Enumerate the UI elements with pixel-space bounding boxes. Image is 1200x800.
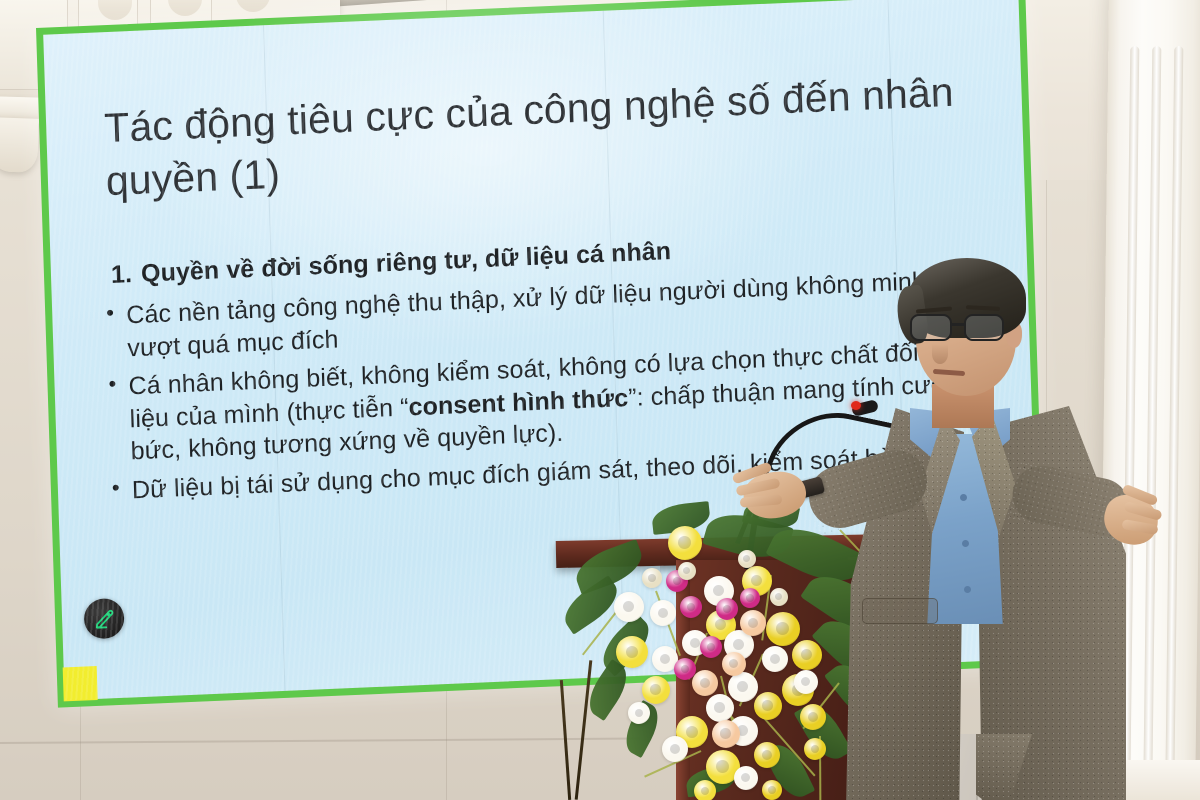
flower-blossom [738, 550, 756, 568]
flower-center [670, 744, 680, 754]
flower-center [768, 786, 776, 794]
shirt-button [964, 586, 971, 593]
presentation-photo-scene: Tác động tiêu cực của công nghệ số đến n… [0, 0, 1200, 800]
flower-blossom [678, 562, 696, 580]
flower-center [660, 654, 670, 664]
flower-center [714, 702, 725, 713]
flower-blossom [674, 658, 696, 680]
blazer-pocket [862, 598, 938, 624]
flower-center [626, 646, 638, 658]
flower-blossom [734, 766, 758, 790]
flower-center [701, 787, 709, 795]
slide-lead-number: 1. [111, 260, 133, 289]
flower-center [686, 726, 698, 738]
slide-bullet-emphasis: consent hình thức [408, 384, 629, 421]
pilaster-flute [1165, 46, 1183, 800]
flower-blossom [716, 598, 738, 620]
flower-blossom [642, 676, 670, 704]
flower-blossom [616, 636, 648, 668]
flower-center [811, 745, 819, 753]
flower-center [808, 712, 818, 722]
flower-blossom [700, 636, 722, 658]
pencil-glyph [92, 607, 116, 631]
flower-center [715, 619, 726, 630]
flower-center [746, 594, 754, 602]
flower-center [635, 709, 643, 717]
flower-center [762, 700, 773, 711]
flower-blossom [762, 780, 782, 800]
flower-center [658, 608, 668, 618]
flower-blossom [754, 742, 780, 768]
flower-center [733, 639, 744, 650]
eyeglasses [910, 314, 1022, 342]
flower-blossom [680, 596, 702, 618]
flower-blossom [740, 588, 760, 608]
bouquet-stem [560, 680, 571, 800]
shirt-button [960, 494, 967, 501]
flower-center [707, 643, 715, 651]
flower-blossom [692, 670, 718, 696]
flower-center [775, 593, 782, 600]
flower-center [713, 585, 724, 596]
flower-blossom [694, 780, 716, 800]
bouquet-stem [575, 660, 593, 800]
shirt-button [962, 540, 969, 547]
flower-center [770, 654, 780, 664]
flower-center [623, 601, 634, 612]
flower-blossom [662, 736, 688, 762]
slide-title: Tác động tiêu cực của công nghệ số đến n… [103, 64, 1006, 209]
eyeglass-lens-left [910, 314, 952, 341]
flower-center [801, 649, 812, 660]
flower-center [716, 760, 729, 773]
flower-blossom [740, 610, 766, 636]
flower-center [801, 677, 810, 686]
flower-center [690, 638, 700, 648]
flower-blossom [722, 652, 746, 676]
flower-blossom [614, 592, 644, 622]
flower-blossom [642, 568, 662, 588]
flower-blossom [804, 738, 826, 760]
nose [932, 344, 948, 364]
eyeglass-lens-right [964, 314, 1004, 341]
flower-center [743, 555, 750, 562]
flower-blossom [754, 692, 782, 720]
flower-blossom [628, 702, 650, 724]
flower-blossom [766, 612, 800, 646]
presenter [836, 258, 1136, 800]
flower-center [723, 605, 731, 613]
flower-center [700, 678, 710, 688]
flower-blossom [706, 694, 734, 722]
flower-center [762, 750, 772, 760]
flower-center [741, 773, 750, 782]
flower-blossom [792, 640, 822, 670]
flower-center [650, 684, 661, 695]
flower-center [776, 622, 789, 635]
cornice-corbel [0, 117, 39, 173]
flower-blossom [800, 704, 826, 730]
flower-blossom [728, 672, 758, 702]
flower-center [729, 659, 738, 668]
pencil-edit-icon[interactable] [83, 598, 124, 640]
yellow-square-marker [63, 666, 98, 701]
flower-center [737, 681, 748, 692]
flower-center [751, 575, 762, 586]
flower-center [748, 618, 758, 628]
flower-center [648, 574, 656, 582]
flower-center [720, 728, 731, 739]
flower-blossom [650, 600, 676, 626]
flower-center [678, 536, 691, 549]
pilaster-flute [1143, 46, 1161, 800]
flower-blossom [712, 720, 740, 748]
flower-blossom [668, 526, 702, 560]
flower-blossom [794, 670, 818, 694]
flower-center [673, 577, 681, 585]
flower-blossom [762, 646, 788, 672]
flower-center [687, 603, 695, 611]
flower-center [683, 567, 690, 574]
flower-blossom [770, 588, 788, 606]
flower-center [681, 665, 689, 673]
